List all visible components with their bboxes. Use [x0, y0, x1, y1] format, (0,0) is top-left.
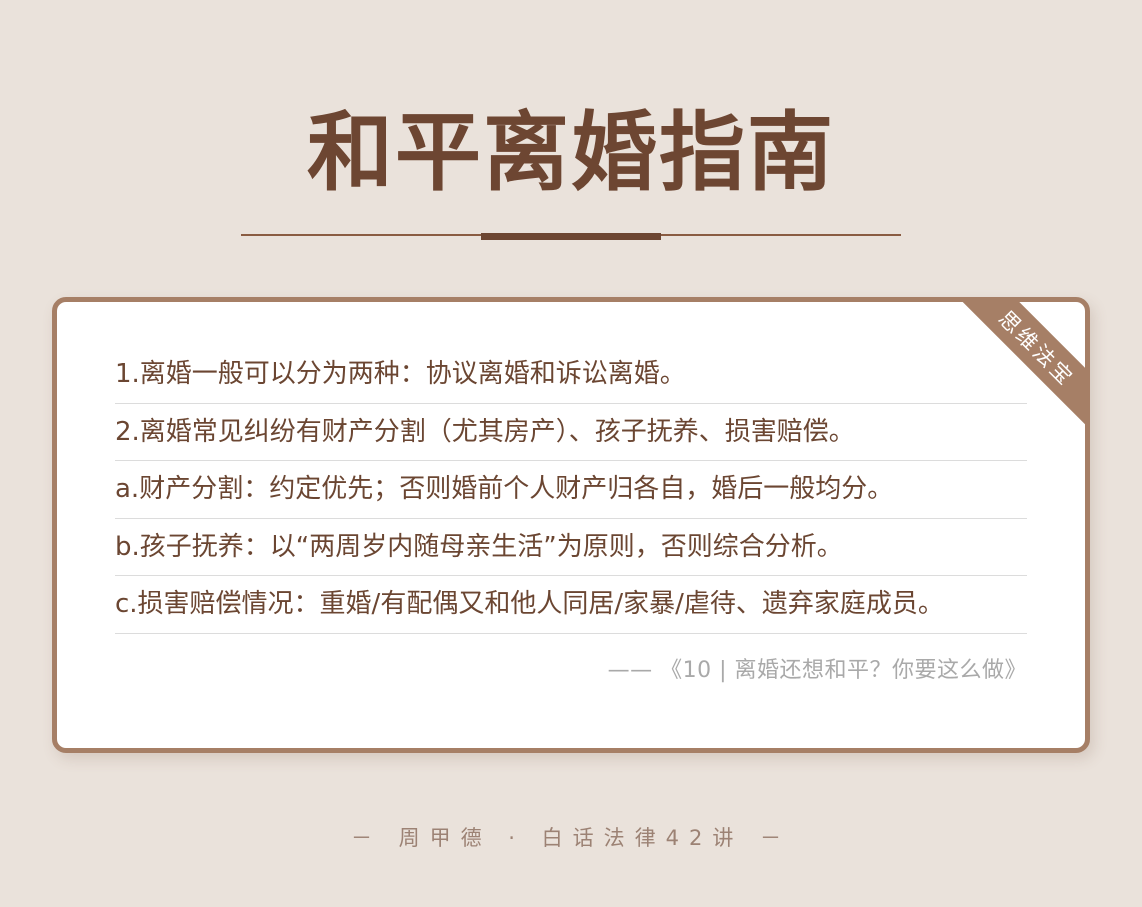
footer-series-label: － 周甲德 · 白话法律42讲 －: [0, 822, 1142, 852]
divider-thick-accent: [481, 233, 661, 240]
title-block: 和平离婚指南: [0, 0, 1142, 240]
list-item: 1.离婚一般可以分为两种：协议离婚和诉讼离婚。: [115, 358, 1027, 404]
title-divider: [241, 230, 901, 240]
list-item: b.孩子抚养：以“两周岁内随母亲生活”为原则，否则综合分析。: [115, 531, 1027, 577]
list-item: 2.离婚常见纠纷有财产分割（尤其房产）、孩子抚养、损害赔偿。: [115, 416, 1027, 462]
content-card: 思维法宝 1.离婚一般可以分为两种：协议离婚和诉讼离婚。 2.离婚常见纠纷有财产…: [52, 297, 1090, 753]
points-list: 1.离婚一般可以分为两种：协议离婚和诉讼离婚。 2.离婚常见纠纷有财产分割（尤其…: [115, 358, 1027, 634]
poster-page: 和平离婚指南 思维法宝 1.离婚一般可以分为两种：协议离婚和诉讼离婚。 2.离婚…: [0, 0, 1142, 907]
list-item: a.财产分割：约定优先；否则婚前个人财产归各自，婚后一般均分。: [115, 473, 1027, 519]
card-body: 1.离婚一般可以分为两种：协议离婚和诉讼离婚。 2.离婚常见纠纷有财产分割（尤其…: [57, 302, 1085, 748]
source-attribution: —— 《10 | 离婚还想和平？你要这么做》: [115, 652, 1027, 684]
page-title: 和平离婚指南: [0, 108, 1142, 198]
list-item: c.损害赔偿情况：重婚/有配偶又和他人同居/家暴/虐待、遗弃家庭成员。: [115, 588, 1027, 634]
